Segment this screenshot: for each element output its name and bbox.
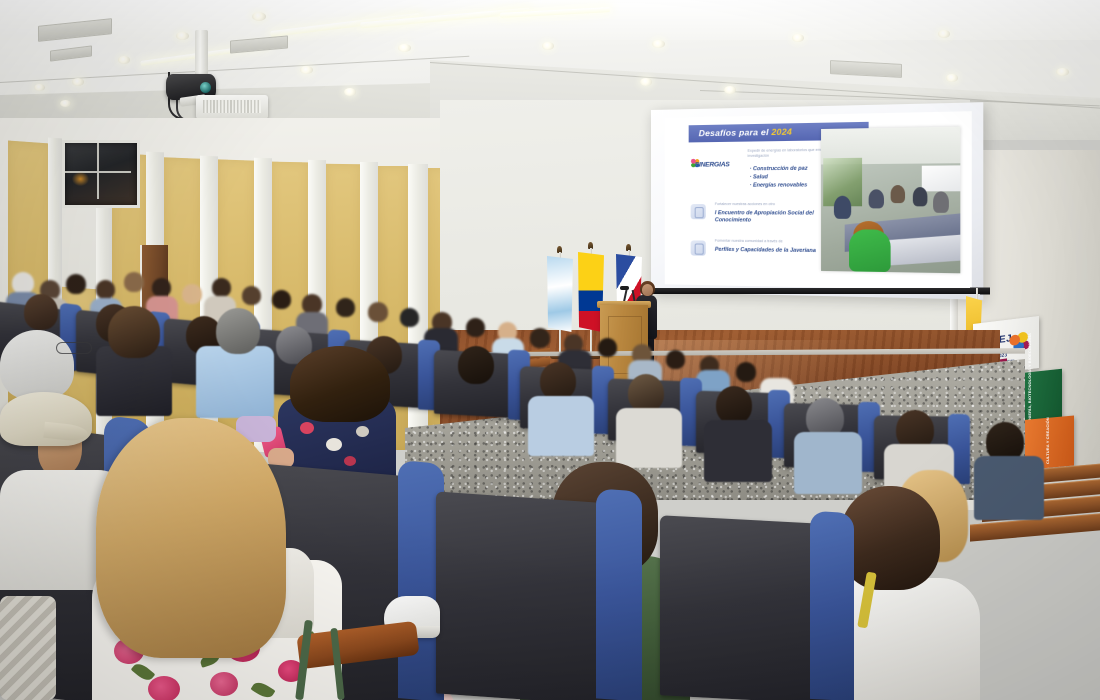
person-flat-cap-hair — [0, 330, 74, 400]
seat-side-panel-foreground — [596, 488, 642, 700]
rose-print — [148, 676, 180, 700]
rose-print — [210, 672, 238, 696]
auditorium-photo: Desafíos para el 2024 SINERGIAS Expedir … — [0, 0, 1100, 700]
leaf-print — [250, 679, 275, 700]
foreground-audience — [0, 0, 1100, 700]
person-floral-hair — [96, 418, 286, 658]
seat-side-panel-foreground — [810, 511, 854, 700]
knit-fabric — [0, 596, 56, 700]
eyeglasses — [56, 342, 92, 354]
person-white-shirt-head — [840, 486, 940, 590]
